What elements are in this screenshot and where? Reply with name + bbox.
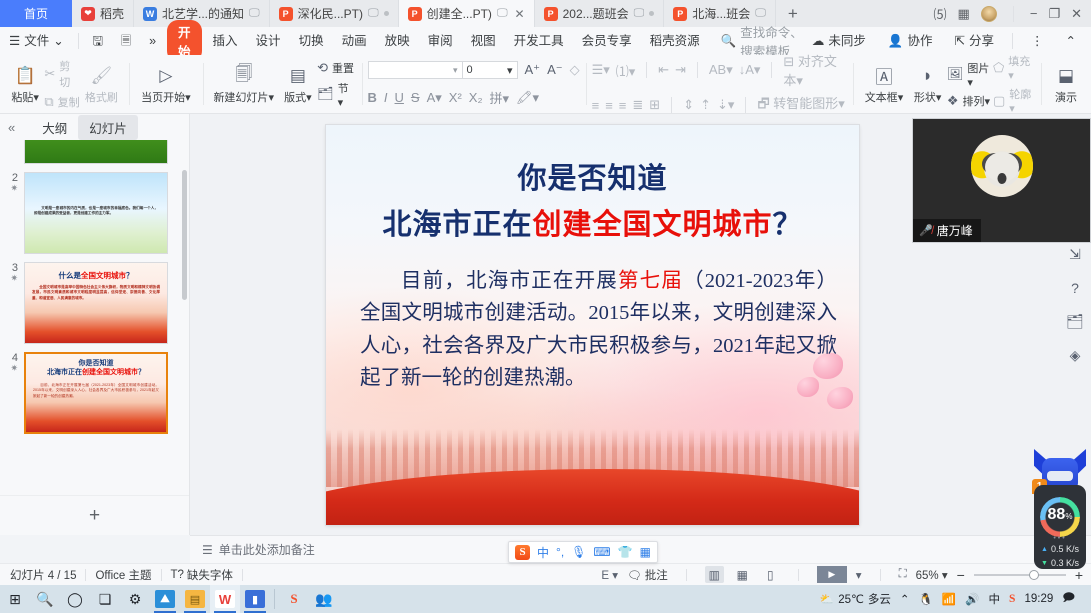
arrange-button[interactable]: ❖ 排列▾ bbox=[947, 93, 993, 109]
slide-thumbnail-3[interactable]: 什么是全国文明城市？ 全国文明城市是高举中国特色社会主义伟大旗帜，物质文明和精神… bbox=[24, 262, 168, 344]
tab-monitor-icon: 🖵 bbox=[497, 7, 508, 20]
ribbon-group-slides: 🗐 新建幻灯片▾ ▤ 版式▾ ⟲ 重置 🗂 节 ▾ bbox=[203, 55, 362, 113]
divider bbox=[671, 97, 672, 113]
meeting-video-panel[interactable]: 🎤̸ 唐万峰 bbox=[912, 118, 1091, 243]
copy-icon: ⧉ bbox=[44, 94, 53, 110]
sogou-glyph: S bbox=[290, 591, 297, 607]
system-tray: ⛅ 25℃ 多云 ⌃ 🐧 📶 🔊 中 S 19:29 🗩 bbox=[820, 590, 1081, 609]
numbering-icon[interactable]: ⑴▾ bbox=[616, 61, 636, 80]
drawing-small-buttons-2: ⬠ 填充▾ ▢ 轮廓▾ bbox=[993, 53, 1035, 115]
shrink-font-icon[interactable]: A⁻ bbox=[547, 62, 563, 78]
people-icon[interactable]: 👥 bbox=[309, 585, 339, 613]
slides-small-buttons: ⟲ 重置 🗂 节 ▾ bbox=[317, 60, 355, 109]
slide-thumbnail-panel: « 大纲 幻灯片 2 ✷ 文明是一座城市的内在气质，也是一座城市的幸福 bbox=[0, 114, 190, 535]
align-justify-icon[interactable]: ≣ bbox=[632, 97, 643, 113]
notification-icon[interactable]: 🗩 bbox=[1062, 590, 1075, 609]
zoom-out-button[interactable]: − bbox=[957, 567, 965, 583]
temperature-value: 25℃ bbox=[838, 592, 864, 606]
space-before-icon[interactable]: ⇡ bbox=[700, 97, 711, 113]
ribbon-tab-developer[interactable]: 开发工具 bbox=[505, 27, 573, 55]
slide-body-text[interactable]: 目前，北海市正在开展第七届（2021-2023年）全国文明城市创建活动。2015… bbox=[360, 265, 837, 395]
notes-icon: ☰ bbox=[202, 543, 213, 557]
layout-button[interactable]: ▤ 版式▾ bbox=[279, 62, 317, 107]
tab-home-label: 首页 bbox=[24, 5, 48, 22]
clear-format-icon[interactable]: ◇ bbox=[570, 62, 580, 78]
paragraph-row-1: ☰▾ ⑴▾ ⇤ ⇥ AB▾ ↓A▾ ⊟ 对齐文本▾ bbox=[592, 51, 848, 89]
download-arrow-icon: ▼ bbox=[1041, 560, 1048, 567]
text-direction-icon[interactable]: AB▾ bbox=[709, 62, 733, 78]
ime-e-button[interactable]: E ▾ bbox=[601, 568, 618, 582]
zoom-level-label[interactable]: 65% ▾ bbox=[916, 568, 948, 582]
ribbon-tab-view[interactable]: 视图 bbox=[462, 27, 505, 55]
mic-icon[interactable]: 🎙 bbox=[571, 545, 586, 559]
align-text-button[interactable]: ⊟ 对齐文本▾ bbox=[783, 51, 847, 89]
picture-icon: 🖼 bbox=[947, 66, 964, 82]
search-icon[interactable]: 🔍 bbox=[30, 585, 60, 613]
thumb-number: 2 ✷ bbox=[0, 172, 24, 194]
slide-title[interactable]: 你是否知道 北海市正在创建全国文明城市？ bbox=[326, 155, 859, 243]
upload-arrow-icon: ▲ bbox=[1041, 546, 1048, 553]
divider bbox=[78, 33, 79, 49]
underline-button[interactable]: U bbox=[395, 90, 404, 105]
ribbon-group-clipboard: 📋 粘贴▾ ✂ 剪切 ⧉ 复制 🖌 格式刷 bbox=[0, 55, 129, 113]
section-icon: 🗂 bbox=[317, 86, 334, 102]
format-painter-button[interactable]: 🖌 格式刷 bbox=[80, 62, 124, 107]
thumb-number: 3 ✷ bbox=[0, 262, 24, 284]
slide-thumbnail-4[interactable]: 你是否知道 北海市正在创建全国文明城市？ 目前，北海市正在开展第七届（2021-… bbox=[24, 352, 168, 434]
start-from-current-button[interactable]: ▷ 当页开始▾ bbox=[135, 62, 197, 107]
reader-icon[interactable]: ▮ bbox=[240, 585, 270, 613]
divider bbox=[745, 97, 746, 113]
tab-slides[interactable]: 幻灯片 bbox=[78, 115, 138, 140]
menu-bar: ☰ 文件 ⌄ 🖫 🗏 » 开始 插入 设计 切换 动画 放映 审阅 视图 开发工… bbox=[0, 27, 1091, 55]
weather-condition: 多云 bbox=[868, 591, 891, 607]
divider bbox=[646, 62, 647, 78]
scissors-icon: ✂ bbox=[44, 66, 55, 82]
ime-icon[interactable]: 中 bbox=[989, 591, 1001, 607]
volume-icon[interactable]: 🔊 bbox=[965, 592, 979, 606]
presentation-icon: P bbox=[279, 7, 293, 21]
start-icon[interactable]: ⊞ bbox=[0, 585, 30, 613]
animation-star-icon: ✷ bbox=[0, 364, 18, 374]
animation-star-icon: ✷ bbox=[0, 184, 18, 194]
shape-button[interactable]: ◗ 形状▾ bbox=[908, 62, 946, 107]
wifi-icon[interactable]: 📶 bbox=[942, 592, 956, 606]
font-format-buttons: B I U S A▾ X² X₂ 拼▾ 🖍▾ bbox=[368, 88, 580, 107]
animation-star-icon: ✷ bbox=[0, 274, 18, 284]
ribbon-tab-design[interactable]: 设计 bbox=[247, 27, 290, 55]
file-menu[interactable]: ☰ 文件 ⌄ bbox=[0, 27, 73, 55]
windows-taskbar: ⊞ 🔍 ◯ ❏ ⚙ ⛰ ▤ W ▮ S 👥 ⛅ 25℃ 多云 ⌃ 🐧 bbox=[0, 585, 1091, 613]
skin-icon[interactable]: 👕 bbox=[618, 545, 633, 559]
thumbnail-scrollbar[interactable] bbox=[182, 170, 187, 300]
play-slideshow-button[interactable]: ▶ bbox=[817, 566, 847, 583]
fill-icon: ⬠ bbox=[993, 60, 1004, 76]
divider bbox=[242, 569, 243, 581]
new-slide-button[interactable]: 🗐 新建幻灯片▾ bbox=[209, 62, 279, 107]
decrease-indent-icon[interactable]: ⇤ bbox=[658, 62, 669, 78]
tab-monitor-icon: 🖵 bbox=[368, 7, 379, 20]
status-bar: 幻灯片 4 / 15 Office 主题 T? 缺失字体 E ▾ 🗨 批注 ▥ … bbox=[0, 563, 1091, 585]
wps-icon[interactable]: W bbox=[210, 585, 240, 613]
chevron-down-icon: ⌄ bbox=[53, 27, 63, 55]
mascot-visor bbox=[1047, 471, 1073, 481]
ribbon-group-slideshow: ▷ 当页开始▾ bbox=[129, 55, 203, 113]
tab-home[interactable]: 首页 bbox=[0, 0, 72, 27]
ribbon-group-present: ⬓ 演示 bbox=[1041, 55, 1091, 113]
ribbon-tab-insert[interactable]: 插入 bbox=[204, 27, 247, 55]
ime-punctuation-icon[interactable]: °, bbox=[556, 545, 564, 559]
list-item[interactable] bbox=[0, 140, 189, 168]
download-speed-value: 0.3 K/s bbox=[1051, 558, 1079, 568]
format-painter-label: 格式刷 bbox=[85, 89, 118, 105]
save-icon[interactable]: 🖫 bbox=[83, 27, 112, 55]
presentation-icon: P bbox=[673, 7, 687, 21]
show-desktop-button[interactable] bbox=[1081, 585, 1091, 613]
file-menu-label: 文件 bbox=[24, 27, 49, 55]
split-view-icon[interactable]: ⑸ bbox=[934, 4, 947, 23]
missing-font-icon: T? bbox=[171, 569, 184, 581]
thumb-body: 全国文明城市是高举中国特色社会主义伟大旗帜，物质文明和精神文明协调发展，市民文明… bbox=[32, 285, 160, 301]
cut-label: 剪切 bbox=[59, 58, 79, 90]
ribbon-group-font: ▾ 0▾ A⁺ A⁻ ◇ B I U S A▾ X² X₂ 拼▾ bbox=[362, 55, 586, 113]
line-spacing-icon[interactable]: ⇕ bbox=[683, 97, 694, 113]
superscript-button[interactable]: X² bbox=[449, 90, 462, 105]
align-distribute-icon[interactable]: ⊞ bbox=[649, 97, 660, 113]
more-options-icon[interactable]: ⋮ bbox=[1022, 27, 1053, 55]
participant-name: 唐万峰 bbox=[937, 222, 973, 239]
present-icon: ⬓ bbox=[1058, 64, 1074, 88]
collapse-panel-icon[interactable]: « bbox=[8, 120, 15, 135]
present-label: 演示 bbox=[1055, 89, 1077, 105]
arrange-icon: ❖ bbox=[947, 93, 959, 109]
grow-font-icon[interactable]: A⁺ bbox=[525, 62, 541, 78]
format-painter-icon: 🖌 bbox=[91, 64, 113, 88]
outline-icon: ▢ bbox=[993, 93, 1005, 109]
zoom-slider-handle[interactable] bbox=[1029, 570, 1039, 580]
textbox-icon: 🄰 bbox=[875, 64, 892, 88]
presentation-icon: P bbox=[544, 7, 558, 21]
sort-icon[interactable]: ↓A▾ bbox=[739, 62, 761, 78]
sogou-logo-icon[interactable]: S bbox=[515, 545, 530, 560]
current-slide[interactable]: 你是否知道 北海市正在创建全国文明城市？ 目前，北海市正在开展第七届（2021-… bbox=[326, 125, 859, 525]
increase-indent-icon[interactable]: ⇥ bbox=[675, 62, 686, 78]
clock-time[interactable]: 19:29 bbox=[1024, 593, 1053, 605]
close-button[interactable]: ✕ bbox=[1071, 6, 1082, 22]
thumb-title: 你是否知道 北海市正在创建全国文明城市？ bbox=[26, 359, 166, 378]
align-center-icon[interactable]: ≡ bbox=[605, 98, 613, 113]
download-speed: ▼ 0.3 K/s bbox=[1034, 558, 1086, 568]
textbox-button[interactable]: 🄰 文本框▾ bbox=[859, 62, 908, 107]
collaborate-icon: 👤 bbox=[888, 27, 904, 55]
comment-button[interactable]: 🗨 批注 bbox=[627, 567, 668, 583]
tab-bar-spacer bbox=[810, 0, 925, 27]
divider bbox=[85, 569, 86, 581]
share-label: 分享 bbox=[969, 27, 994, 55]
picture-button[interactable]: 🖼 图片▾ bbox=[947, 60, 993, 89]
divider bbox=[274, 589, 275, 609]
font-size-select[interactable]: 0▾ bbox=[463, 61, 518, 79]
thumb-title: 什么是全国文明城市？ bbox=[25, 270, 167, 281]
normal-view-icon[interactable]: ▥ bbox=[705, 566, 724, 583]
tab-unsaved-dot bbox=[649, 11, 654, 16]
font-selectors: ▾ 0▾ A⁺ A⁻ ◇ bbox=[368, 61, 580, 79]
presentation-icon: P bbox=[408, 7, 422, 21]
font-color-button[interactable]: A▾ bbox=[427, 90, 442, 106]
subscript-button[interactable]: X₂ bbox=[469, 90, 483, 105]
media-app-icon[interactable]: ⛰ bbox=[150, 585, 180, 613]
ai-tool-icon[interactable]: 🗂 bbox=[1066, 313, 1084, 330]
add-slide-button[interactable]: + bbox=[0, 495, 189, 535]
copy-button[interactable]: ⧉ 复制 bbox=[44, 94, 79, 110]
explorer-glyph: ▤ bbox=[185, 590, 205, 608]
missing-font-label[interactable]: 缺失字体 bbox=[187, 567, 233, 583]
tab-docer-label: 稻壳 bbox=[100, 5, 124, 22]
avatar-mouth bbox=[997, 173, 1006, 184]
feature-icon[interactable]: ◈ bbox=[1070, 347, 1081, 364]
participant-name-badge: 🎤̸ 唐万峰 bbox=[913, 219, 981, 242]
divider bbox=[880, 569, 881, 581]
slide-thumbnail-1[interactable] bbox=[24, 140, 168, 164]
print-preview-icon[interactable]: 🗏 bbox=[112, 27, 140, 55]
divider bbox=[686, 569, 687, 581]
slide-sorter-icon[interactable]: ▦ bbox=[733, 566, 752, 583]
file-explorer-icon[interactable]: ▤ bbox=[180, 585, 210, 613]
network-monitor-widget[interactable]: 1 88% ••• ▲ 0.5 K/s ▼ 0.3 K/s bbox=[1032, 449, 1088, 569]
divider bbox=[1012, 33, 1013, 49]
font-family-select[interactable]: ▾ bbox=[368, 61, 463, 79]
strikethrough-button[interactable]: S bbox=[411, 90, 420, 105]
reading-view-icon[interactable]: ▯ bbox=[761, 566, 780, 583]
thumb-body: 文明是一座城市的内在气质，也是一座城市的幸福底色。我们每一个人，即是创建成果的受… bbox=[34, 206, 158, 217]
divider bbox=[161, 569, 162, 581]
thumb-body: 目前，北海市正在开展第七届（2021-2023年）全国文明城市创建活动。2015… bbox=[33, 383, 159, 399]
slide-title-line1: 你是否知道 bbox=[326, 155, 859, 197]
paste-icon: 📋 bbox=[15, 64, 36, 88]
sogou-ime-toolbar[interactable]: S 中 °, 🎙 ⌨ 👕 ▦ bbox=[508, 541, 658, 563]
highlight-button[interactable]: 🖍▾ bbox=[516, 90, 539, 106]
paste-button[interactable]: 📋 粘贴▾ bbox=[6, 62, 44, 107]
upload-speed: ▲ 0.5 K/s bbox=[1034, 544, 1086, 554]
qq-icon[interactable]: 🐧 bbox=[919, 592, 933, 606]
list-item[interactable]: 4 ✷ 你是否知道 北海市正在创建全国文明城市？ 目前，北海市正在开展第七届（2… bbox=[0, 348, 189, 438]
ime-mode-chinese[interactable]: 中 bbox=[537, 544, 549, 561]
reset-button[interactable]: ⟲ 重置 bbox=[317, 60, 355, 76]
tab-monitor-icon: 🖵 bbox=[755, 7, 766, 20]
bold-button[interactable]: B bbox=[368, 90, 377, 105]
thumb-number: 4 ✷ bbox=[0, 352, 24, 374]
upload-speed-value: 0.5 K/s bbox=[1051, 544, 1079, 554]
help-icon[interactable]: ? bbox=[1071, 280, 1079, 296]
section-button[interactable]: 🗂 节 ▾ bbox=[317, 80, 355, 109]
paragraph-controls: ☰▾ ⑴▾ ⇤ ⇥ AB▾ ↓A▾ ⊟ 对齐文本▾ ≡ ≡ ≡ ≣ ⊞ bbox=[592, 51, 848, 117]
phonetic-guide-button[interactable]: 拼▾ bbox=[490, 88, 510, 107]
avatar bbox=[971, 135, 1033, 197]
status-left: 幻灯片 4 / 15 Office 主题 T? 缺失字体 bbox=[0, 567, 252, 583]
align-right-icon[interactable]: ≡ bbox=[619, 98, 627, 113]
font-controls: ▾ 0▾ A⁺ A⁻ ◇ B I U S A▾ X² X₂ 拼▾ bbox=[368, 61, 580, 107]
sogou-icon[interactable]: S bbox=[279, 585, 309, 613]
right-side-toolbar: ⇲ ? 🗂 ◈ bbox=[1061, 246, 1089, 364]
score-percent: 88% bbox=[1034, 506, 1086, 524]
ribbon-tab-review[interactable]: 审阅 bbox=[419, 27, 462, 55]
collaborate-button[interactable]: 👤 协作 bbox=[879, 27, 942, 55]
ribbon-group-drawing: 🄰 文本框▾ ◗ 形状▾ 🖼 图片▾ ❖ 排列▾ ⬠ bbox=[853, 55, 1041, 113]
zoom-slider[interactable] bbox=[974, 574, 1066, 576]
italic-button[interactable]: I bbox=[384, 90, 388, 105]
monitor-body: 88% ••• ▲ 0.5 K/s ▼ 0.3 K/s bbox=[1034, 485, 1086, 569]
keyboard-icon[interactable]: ⌨ bbox=[593, 545, 610, 559]
present-button[interactable]: ⬓ 演示 bbox=[1047, 62, 1085, 107]
tab-monitor-icon: 🖵 bbox=[249, 7, 260, 20]
pager-dots: ••• bbox=[1034, 535, 1086, 542]
list-item[interactable]: 3 ✷ 什么是全国文明城市？ 全国文明城市是高举中国特色社会主义伟大旗帜，物质文… bbox=[0, 258, 189, 348]
mic-muted-icon: 🎤̸ bbox=[919, 224, 933, 237]
ribbon-toolbar: 📋 粘贴▾ ✂ 剪切 ⧉ 复制 🖌 格式刷 ▷ 当页开始▾ bbox=[0, 55, 1091, 114]
tab-close-icon[interactable]: ✕ bbox=[515, 7, 525, 21]
font-size-value: 0 bbox=[467, 64, 473, 76]
tab-unsaved-dot bbox=[384, 11, 389, 16]
clipboard-small-buttons: ✂ 剪切 ⧉ 复制 bbox=[44, 58, 79, 110]
cut-button[interactable]: ✂ 剪切 bbox=[44, 58, 79, 90]
grid-view-icon[interactable]: ▦ bbox=[958, 6, 970, 22]
sogou-tray-icon[interactable]: S bbox=[1009, 593, 1015, 605]
docer-icon: ❤ bbox=[81, 7, 95, 21]
hamburger-icon: ☰ bbox=[9, 27, 20, 55]
align-left-icon[interactable]: ≡ bbox=[592, 98, 600, 113]
tab-outline[interactable]: 大纲 bbox=[31, 115, 78, 140]
play-dropdown-icon[interactable]: ▾ bbox=[856, 568, 862, 582]
new-slide-icon: 🗐 bbox=[235, 64, 252, 88]
user-avatar[interactable] bbox=[981, 6, 997, 22]
slide-count-label: 幻灯片 4 / 15 bbox=[10, 567, 76, 583]
partly-cloudy-icon: ⛅ bbox=[820, 592, 834, 606]
notes-placeholder: 单击此处添加备注 bbox=[219, 541, 315, 558]
settings-icon[interactable]: ⚙ bbox=[120, 585, 150, 613]
reset-label: 重置 bbox=[332, 60, 354, 76]
media-app-glyph: ⛰ bbox=[155, 590, 175, 608]
layout-icon: ▤ bbox=[290, 64, 306, 88]
divider bbox=[798, 569, 799, 581]
thumbnail-list[interactable]: 2 ✷ 文明是一座城市的内在气质，也是一座城市的幸福底色。我们每一个人，即是创建… bbox=[0, 140, 189, 495]
space-after-icon[interactable]: ⇣▾ bbox=[717, 97, 734, 113]
panel-header: « 大纲 幻灯片 bbox=[0, 114, 189, 140]
status-right: E ▾ 🗨 批注 ▥ ▦ ▯ ▶ ▾ ⛶ 65% ▾ − + bbox=[601, 566, 1091, 583]
divider bbox=[1013, 6, 1014, 22]
search-icon: 🔍 bbox=[721, 34, 737, 49]
maximize-button[interactable]: ❐ bbox=[1048, 6, 1060, 22]
export-icon[interactable]: ⇲ bbox=[1069, 246, 1081, 263]
ribbon-group-paragraph: ☰▾ ⑴▾ ⇤ ⇥ AB▾ ↓A▾ ⊟ 对齐文本▾ ≡ ≡ ≡ ≣ ⊞ bbox=[586, 55, 854, 113]
wps-glyph: W bbox=[215, 590, 235, 608]
list-item[interactable]: 2 ✷ 文明是一座城市的内在气质，也是一座城市的幸福底色。我们每一个人，即是创建… bbox=[0, 168, 189, 258]
thumb-art bbox=[25, 140, 167, 163]
play-circle-icon: ▷ bbox=[159, 64, 172, 88]
share-icon: ⇱ bbox=[955, 27, 965, 55]
reader-glyph: ▮ bbox=[245, 590, 265, 608]
fit-to-window-icon[interactable]: ⛶ bbox=[899, 568, 907, 581]
drawing-small-buttons: 🖼 图片▾ ❖ 排列▾ bbox=[947, 60, 993, 109]
weather-widget[interactable]: ⛅ 25℃ 多云 bbox=[820, 591, 891, 607]
writer-icon: W bbox=[143, 7, 157, 21]
window-controls: ⑸ ▦ − ❐ ✕ bbox=[925, 0, 1091, 27]
outline-button[interactable]: ▢ 轮廓▾ bbox=[993, 86, 1035, 115]
theme-label[interactable]: Office 主题 bbox=[95, 567, 151, 583]
fill-button[interactable]: ⬠ 填充▾ bbox=[993, 53, 1035, 82]
shape-icon: ◗ bbox=[923, 64, 933, 88]
wps-presentation-window: 首页 ❤ 稻壳 W 北艺学...的通知 🖵 P 深化民...PT) 🖵 P 创建… bbox=[0, 0, 1091, 613]
divider bbox=[697, 62, 698, 78]
reset-icon: ⟲ bbox=[317, 60, 328, 76]
collapse-ribbon-icon[interactable]: ⌃ bbox=[1057, 27, 1085, 55]
bullets-icon[interactable]: ☰▾ bbox=[592, 62, 610, 78]
apps-icon[interactable]: ▦ bbox=[640, 545, 651, 559]
tab-docer[interactable]: ❤ 稻壳 bbox=[72, 0, 134, 27]
cortana-icon[interactable]: ◯ bbox=[60, 585, 90, 613]
copy-label: 复制 bbox=[58, 94, 80, 110]
share-button[interactable]: ⇱ 分享 bbox=[946, 27, 1004, 55]
slide-thumbnail-2[interactable]: 文明是一座城市的内在气质，也是一座城市的幸福底色。我们每一个人，即是创建成果的受… bbox=[24, 172, 168, 254]
tray-overflow-chevron-icon[interactable]: ⌃ bbox=[900, 592, 910, 606]
task-view-icon[interactable]: ❏ bbox=[90, 585, 120, 613]
slide-title-line2: 北海市正在创建全国文明城市？ bbox=[326, 201, 859, 243]
tab-monitor-icon: 🖵 bbox=[634, 7, 645, 20]
divider bbox=[771, 62, 772, 78]
minimize-button[interactable]: − bbox=[1030, 6, 1038, 21]
ribbon-tab-animation[interactable]: 动画 bbox=[333, 27, 376, 55]
quick-access-more-icon[interactable]: » bbox=[140, 27, 165, 55]
ribbon-tab-slideshow[interactable]: 放映 bbox=[376, 27, 419, 55]
collaborate-label: 协作 bbox=[908, 27, 933, 55]
ribbon-tab-transition[interactable]: 切换 bbox=[290, 27, 333, 55]
